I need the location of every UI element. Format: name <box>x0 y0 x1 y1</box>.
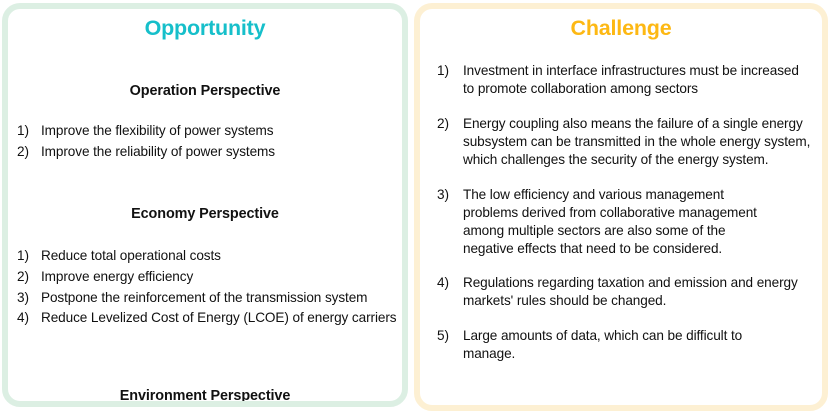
challenge-panel-title: Challenge <box>420 17 822 41</box>
list-item-text: Improve energy efficiency <box>41 268 402 286</box>
list-marker: 1) <box>17 247 43 265</box>
list-item-text: Regulations regarding taxation and emiss… <box>463 274 800 310</box>
challenge-list: 1) Investment in interface infrastructur… <box>420 62 822 363</box>
list-marker: 2) <box>17 143 43 161</box>
list-item: 2) Improve the reliability of power syst… <box>8 143 402 161</box>
section-heading-operation: Operation Perspective <box>8 83 402 99</box>
list-marker: 2) <box>17 268 43 286</box>
list-item-text: The low efficiency and various managemen… <box>463 186 764 258</box>
list-marker: 5) <box>437 327 463 345</box>
operation-perspective-list: 1) Improve the flexibility of power syst… <box>8 122 402 161</box>
list-item: 5) Large amounts of data, which can be d… <box>420 327 822 363</box>
spacer <box>420 55 822 62</box>
list-marker: 1) <box>437 62 463 80</box>
list-item: 1) Improve the flexibility of power syst… <box>8 122 402 140</box>
spacer <box>8 55 402 71</box>
section-heading-environment: Environment Perspective <box>8 388 402 404</box>
list-item-text: Improve the reliability of power systems <box>41 143 402 161</box>
opportunity-panel: Opportunity Operation Perspective 1) Imp… <box>2 3 408 407</box>
list-item-text: Reduce total operational costs <box>41 247 402 265</box>
economy-perspective-list: 1) Reduce total operational costs 2) Imp… <box>8 247 402 328</box>
list-marker: 4) <box>437 274 463 292</box>
list-item-text: Investment in interface infrastructures … <box>463 62 804 98</box>
spacer <box>8 330 402 376</box>
list-item-text: Postpone the reinforcement of the transm… <box>41 289 402 307</box>
list-marker: 1) <box>17 122 43 140</box>
spacer <box>8 164 402 194</box>
opportunity-panel-title: Opportunity <box>8 17 402 41</box>
list-marker: 4) <box>17 309 43 327</box>
list-item: 2) Energy coupling also means the failur… <box>420 115 822 169</box>
section-heading-economy: Economy Perspective <box>8 206 402 222</box>
list-marker: 3) <box>17 289 43 307</box>
list-item: 4) Regulations regarding taxation and em… <box>420 274 822 310</box>
challenge-panel: Challenge 1) Investment in interface inf… <box>414 3 828 411</box>
list-item-text: Improve the flexibility of power systems <box>41 122 402 140</box>
list-marker: 2) <box>437 115 463 133</box>
list-item: 2) Improve energy efficiency <box>8 268 402 286</box>
list-marker: 3) <box>437 186 463 204</box>
list-item-text: Energy coupling also means the failure o… <box>463 115 812 169</box>
list-item: 1) Investment in interface infrastructur… <box>420 62 822 98</box>
list-item: 3) The low efficiency and various manage… <box>420 186 822 258</box>
list-item: 1) Reduce total operational costs <box>8 247 402 265</box>
list-item-text: Reduce Levelized Cost of Energy (LCOE) o… <box>41 309 402 327</box>
list-item: 3) Postpone the reinforcement of the tra… <box>8 289 402 307</box>
list-item-text: Large amounts of data, which can be diff… <box>463 327 764 363</box>
comparison-diagram: Opportunity Operation Perspective 1) Imp… <box>0 0 831 417</box>
list-item: 4) Reduce Levelized Cost of Energy (LCOE… <box>8 309 402 327</box>
